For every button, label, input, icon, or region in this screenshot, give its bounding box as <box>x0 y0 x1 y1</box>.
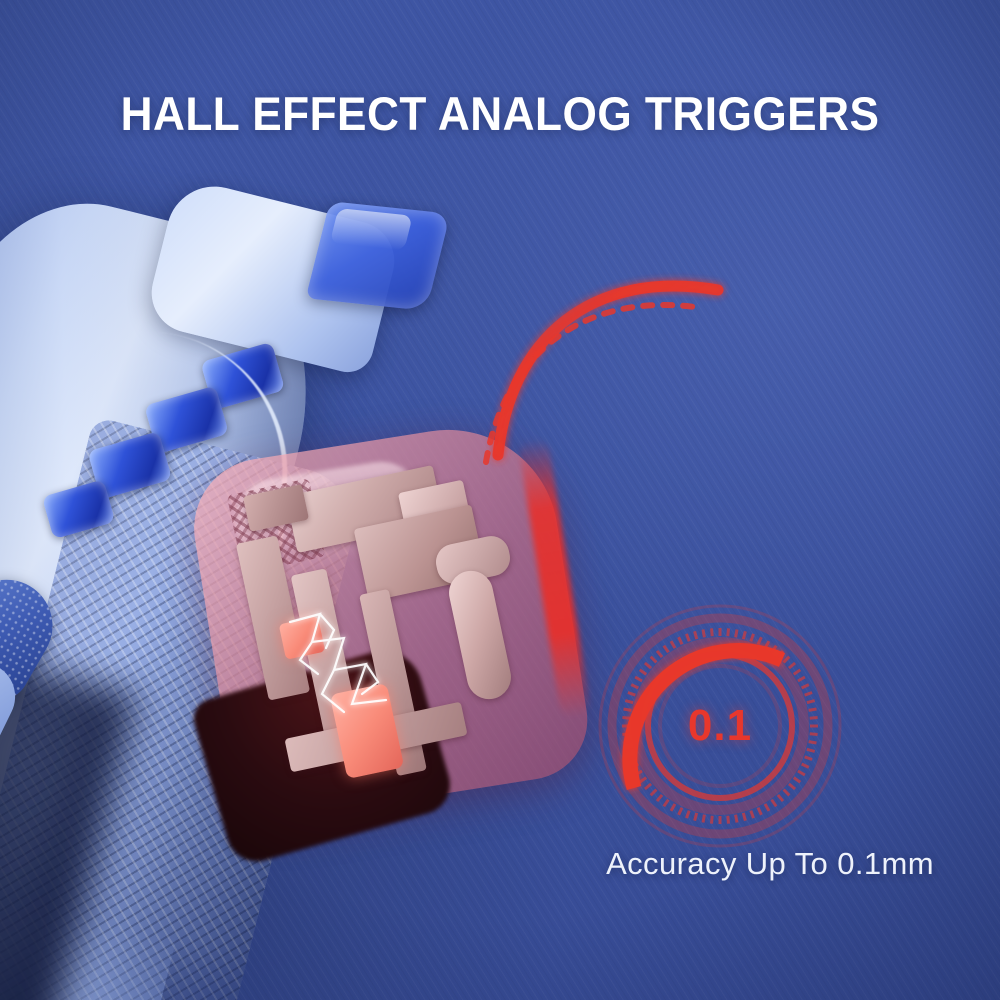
accuracy-caption: Accuracy Up To 0.1mm <box>560 846 980 882</box>
shoulder-bumper <box>306 201 451 311</box>
trigger-travel-arc <box>480 250 760 480</box>
bumper-gloss <box>329 208 412 251</box>
product-feature-banner: HALL EFFECT ANALOG TRIGGERS <box>0 0 1000 1000</box>
analog-trigger-cutaway <box>190 420 610 840</box>
page-title: HALL EFFECT ANALOG TRIGGERS <box>30 86 970 141</box>
accuracy-gauge: 0.1 <box>592 598 848 854</box>
gauge-value: 0.1 <box>592 701 848 751</box>
